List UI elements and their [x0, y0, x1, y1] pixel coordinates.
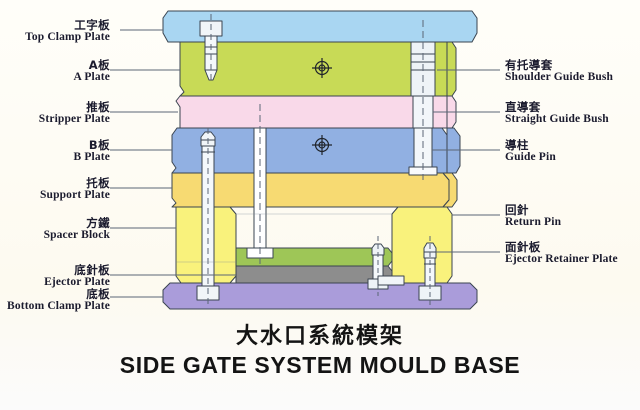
label-guide-pin: 導柱 Guide Pin [505, 139, 556, 164]
label-a-plate-cn: A板 [74, 59, 111, 71]
label-support-plate: 托板 Support Plate [40, 177, 110, 202]
label-support-plate-cn: 托板 [40, 177, 110, 189]
label-ejector-retainer-plate-en: Ejector Retainer Plate [505, 253, 618, 265]
label-ejector-retainer-plate-cn: 面針板 [505, 241, 618, 253]
label-bottom-clamp-plate-cn: 底板 [7, 288, 110, 300]
page-title-english: SIDE GATE SYSTEM MOULD BASE [0, 352, 640, 379]
label-spacer-block-cn: 方鐵 [44, 217, 110, 229]
label-shoulder-guide-bush-cn: 有托導套 [505, 59, 613, 71]
plate-a-right-wing [447, 42, 456, 96]
part-cap-screw-long-shank [202, 146, 214, 286]
label-ejector-retainer-plate: 面針板 Ejector Retainer Plate [505, 241, 618, 266]
label-ejector-plate: 底針板 Ejector Plate [44, 264, 110, 289]
label-guide-pin-cn: 導柱 [505, 139, 556, 151]
label-spacer-block: 方鐵 Spacer Block [44, 217, 110, 242]
label-return-pin: 回針 Return Pin [505, 204, 561, 229]
label-stripper-plate-cn: 推板 [39, 101, 110, 113]
label-b-plate-cn: B板 [74, 139, 111, 151]
label-straight-guide-bush-cn: 直導套 [505, 101, 609, 113]
part-top-right-screw [378, 276, 404, 285]
label-spacer-block-en: Spacer Block [44, 229, 110, 241]
label-shoulder-guide-bush-en: Shoulder Guide Bush [505, 71, 613, 83]
label-b-plate-en: B Plate [74, 151, 111, 163]
label-top-clamp-plate-en: Top Clamp Plate [25, 31, 110, 43]
plate-spacer-right [392, 207, 452, 283]
label-shoulder-guide-bush: 有托導套 Shoulder Guide Bush [505, 59, 613, 84]
plate-stripper [176, 96, 447, 128]
page-title: 大水口系統模架 SIDE GATE SYSTEM MOULD BASE [0, 318, 640, 379]
label-stripper-plate-en: Stripper Plate [39, 113, 110, 125]
label-straight-guide-bush: 直導套 Straight Guide Bush [505, 101, 609, 126]
label-top-clamp-plate: 工字板 Top Clamp Plate [25, 19, 110, 44]
label-support-plate-en: Support Plate [40, 189, 110, 201]
label-top-clamp-plate-cn: 工字板 [25, 19, 110, 31]
label-a-plate: A板 A Plate [74, 59, 111, 84]
label-stripper-plate: 推板 Stripper Plate [39, 101, 110, 126]
page-title-chinese: 大水口系統模架 [0, 318, 640, 350]
label-straight-guide-bush-en: Straight Guide Bush [505, 113, 609, 125]
label-b-plate: B板 B Plate [74, 139, 111, 164]
diagram-page: 工字板 Top Clamp Plate A板 A Plate 推板 Stripp… [0, 0, 640, 410]
label-a-plate-en: A Plate [74, 71, 111, 83]
plate-a [180, 42, 447, 96]
label-bottom-clamp-plate: 底板 Bottom Clamp Plate [7, 288, 110, 313]
label-bottom-clamp-plate-en: Bottom Clamp Plate [7, 300, 110, 312]
label-guide-pin-en: Guide Pin [505, 151, 556, 163]
label-ejector-plate-cn: 底針板 [44, 264, 110, 276]
part-return-pin-shank [373, 255, 383, 279]
label-return-pin-cn: 回針 [505, 204, 561, 216]
label-return-pin-en: Return Pin [505, 216, 561, 228]
